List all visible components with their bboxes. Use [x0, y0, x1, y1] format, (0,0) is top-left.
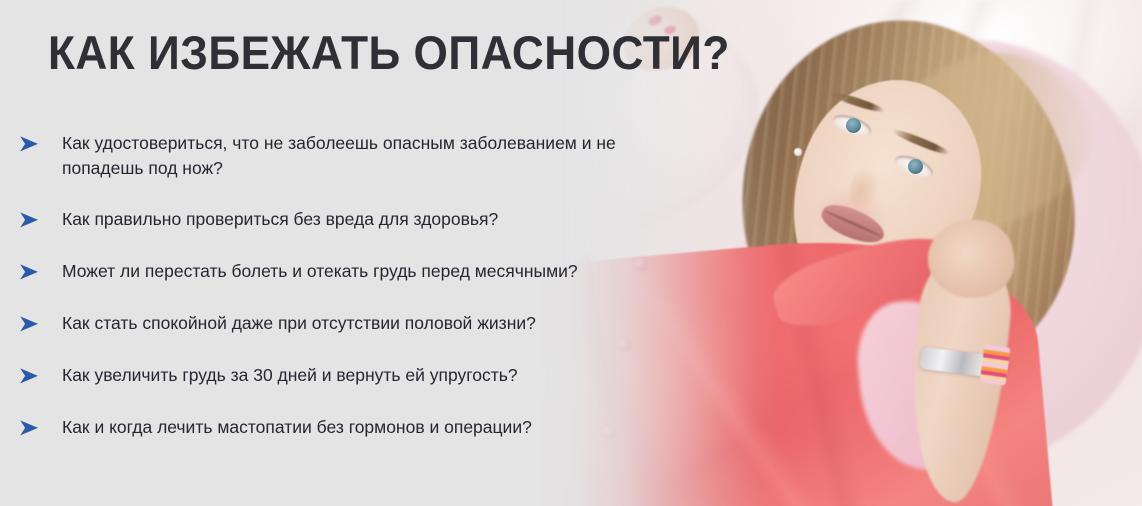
list-item-label: Как увеличить грудь за 30 дней и вернуть… [62, 363, 518, 388]
arrow-right-icon [17, 416, 41, 440]
arrow-right-icon [17, 208, 41, 232]
arrow-right-icon [17, 364, 41, 388]
list-item-label: Как правильно провериться без вреда для … [62, 207, 498, 232]
list-item: Как и когда лечить мастопатии без гормон… [0, 415, 660, 441]
list-item: Как удостовериться, что не заболеешь опа… [0, 131, 660, 181]
list-item: Как стать спокойной даже при отсутствии … [0, 311, 660, 337]
list-item-label: Как удостовериться, что не заболеешь опа… [62, 131, 622, 181]
list-item: Может ли перестать болеть и отекать груд… [0, 259, 660, 285]
content-column: КАК ИЗБЕЖАТЬ ОПАСНОСТИ? Как удостоверить… [0, 0, 700, 506]
list-item-label: Как и когда лечить мастопатии без гормон… [62, 415, 532, 440]
arrow-right-icon [17, 132, 41, 156]
list-item-label: Как стать спокойной даже при отсутствии … [62, 311, 536, 336]
list-item: Как увеличить грудь за 30 дней и вернуть… [0, 363, 660, 389]
page-title: КАК ИЗБЕЖАТЬ ОПАСНОСТИ? [48, 26, 730, 80]
arrow-right-icon [17, 260, 41, 284]
benefit-list: Как удостовериться, что не заболеешь опа… [0, 131, 660, 441]
list-item-label: Может ли перестать болеть и отекать груд… [62, 259, 578, 284]
list-item: Как правильно провериться без вреда для … [0, 207, 660, 233]
arrow-right-icon [17, 312, 41, 336]
promo-banner: КАК ИЗБЕЖАТЬ ОПАСНОСТИ? Как удостоверить… [0, 0, 1142, 506]
